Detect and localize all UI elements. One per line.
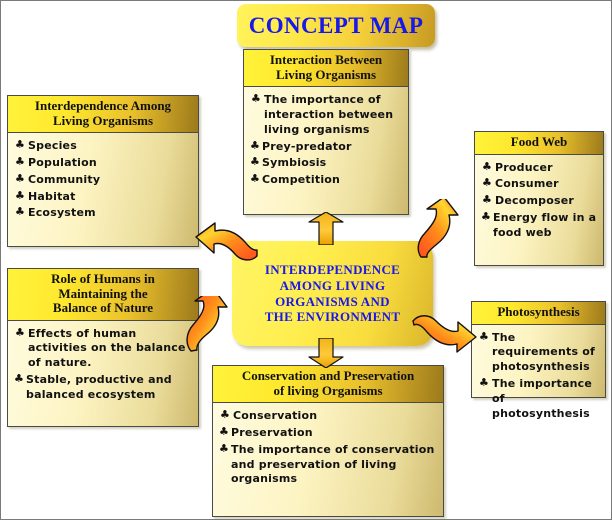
club-bullet-icon: ♣ <box>15 326 25 341</box>
club-bullet-icon: ♣ <box>219 425 229 440</box>
list-item: ♣The importance of photosynthesis <box>479 377 601 422</box>
club-bullet-icon: ♣ <box>220 408 230 423</box>
concept-map-canvas: CONCEPT MAP Interd <box>0 0 612 520</box>
club-bullet-icon: ♣ <box>15 205 25 220</box>
club-bullet-icon: ♣ <box>15 172 25 187</box>
list-item-label: The requirements of photosynthesis <box>492 331 595 374</box>
list-item-label: Species <box>28 139 77 152</box>
box-interdependence-among-living-organisms[interactable]: Interdependence Among Living Organisms ♣… <box>7 95 199 247</box>
box-role-of-humans[interactable]: Role of Humans in Maintaining the Balanc… <box>7 268 199 427</box>
box-body: ♣Species ♣Population ♣Community ♣Habitat… <box>8 133 198 228</box>
header-line: Role of Humans in <box>11 272 195 287</box>
header-line: Living Organisms <box>11 114 195 129</box>
club-bullet-icon: ♣ <box>250 139 260 154</box>
header-line: Food Web <box>478 135 600 150</box>
box-body: ♣The importance of interaction between l… <box>244 87 408 195</box>
list-item-label: Ecosystem <box>28 206 96 219</box>
list-item-label: Symbiosis <box>262 156 326 169</box>
box-header: Photosynthesis <box>472 302 605 325</box>
box-header: Interaction Between Living Organisms <box>244 50 408 87</box>
central-line: AMONG LIVING <box>265 278 401 294</box>
box-interaction-between-living-organisms[interactable]: Interaction Between Living Organisms ♣Th… <box>243 49 409 215</box>
header-line: Living Organisms <box>247 68 405 83</box>
box-header: Interdependence Among Living Organisms <box>8 96 198 133</box>
list-item: ♣Stable, productive and balanced ecosyst… <box>15 373 194 403</box>
list-item-label: Prey-predator <box>262 140 352 153</box>
club-bullet-icon: ♣ <box>481 210 491 225</box>
club-bullet-icon: ♣ <box>482 176 492 191</box>
list-item-label: Population <box>28 156 97 169</box>
arrow-to-humans <box>183 296 253 356</box>
central-line: THE ENVIRONMENT <box>265 309 401 325</box>
list-item: ♣Effects of human activities on the bala… <box>15 327 194 372</box>
club-bullet-icon: ♣ <box>14 372 24 387</box>
box-header: Role of Humans in Maintaining the Balanc… <box>8 269 198 321</box>
header-line: Conservation and Preservation <box>216 369 440 384</box>
header-line: Interaction Between <box>247 53 405 68</box>
list-item: ♣Conservation <box>220 409 439 424</box>
arrow-to-interdependence <box>193 206 263 262</box>
bullet-list: ♣Producer ♣Consumer ♣Decomposer ♣Energy … <box>482 161 599 241</box>
list-item-label: Stable, productive and balanced ecosyste… <box>26 373 172 401</box>
list-item-label: The importance of interaction between li… <box>264 93 393 136</box>
page-title: CONCEPT MAP <box>249 13 424 39</box>
list-item: ♣The importance of interaction between l… <box>251 93 404 138</box>
list-item: ♣Community <box>15 173 194 188</box>
box-food-web[interactable]: Food Web ♣Producer ♣Consumer ♣Decomposer… <box>474 131 604 266</box>
arrow-to-photosynthesis <box>409 307 479 359</box>
bullet-list: ♣Conservation ♣Preservation ♣The importa… <box>220 409 439 487</box>
club-bullet-icon: ♣ <box>15 155 25 170</box>
box-body: ♣Effects of human activities on the bala… <box>8 321 198 410</box>
list-item-label: Effects of human activities on the balan… <box>28 327 186 370</box>
list-item-label: Energy flow in a food web <box>493 211 596 239</box>
box-body: ♣Producer ♣Consumer ♣Decomposer ♣Energy … <box>475 155 603 248</box>
list-item: ♣Energy flow in a food web <box>482 211 599 241</box>
club-bullet-icon: ♣ <box>250 172 260 187</box>
list-item: ♣The importance of conservation and pres… <box>220 443 439 488</box>
list-item-label: Community <box>28 173 100 186</box>
club-bullet-icon: ♣ <box>479 330 489 345</box>
arrow-to-conservation <box>306 338 346 368</box>
list-item: ♣Competition <box>251 173 404 188</box>
arrow-to-interaction <box>306 212 346 245</box>
list-item: ♣The requirements of photosynthesis <box>479 331 601 376</box>
club-bullet-icon: ♣ <box>250 155 260 170</box>
box-photosynthesis[interactable]: Photosynthesis ♣The requirements of phot… <box>471 301 606 398</box>
central-line: INTERDEPENDENCE <box>265 262 401 278</box>
arrow-to-foodweb <box>417 199 479 261</box>
list-item: ♣Decomposer <box>482 194 599 209</box>
bullet-list: ♣The importance of interaction between l… <box>251 93 404 188</box>
box-header: Conservation and Preservation of living … <box>213 366 443 403</box>
bullet-list: ♣Species ♣Population ♣Community ♣Habitat… <box>15 139 194 221</box>
list-item-label: Consumer <box>495 177 559 190</box>
bullet-list: ♣The requirements of photosynthesis ♣The… <box>479 331 601 422</box>
header-line: Interdependence Among <box>11 99 195 114</box>
club-bullet-icon: ♣ <box>15 138 25 153</box>
box-body: ♣Conservation ♣Preservation ♣The importa… <box>213 403 443 494</box>
list-item: ♣Symbiosis <box>251 156 404 171</box>
club-bullet-icon: ♣ <box>219 442 229 457</box>
header-line: Photosynthesis <box>475 305 602 320</box>
concept-map-title-banner: CONCEPT MAP <box>237 4 435 47</box>
central-node-text: INTERDEPENDENCE AMONG LIVING ORGANISMS A… <box>265 262 401 325</box>
box-header: Food Web <box>475 132 603 155</box>
list-item-label: The importance of conservation and prese… <box>231 443 435 486</box>
bullet-list: ♣Effects of human activities on the bala… <box>15 327 194 403</box>
central-line: ORGANISMS AND <box>265 294 401 310</box>
list-item: ♣Species <box>15 139 194 154</box>
list-item: ♣Prey-predator <box>251 140 404 155</box>
list-item-label: Producer <box>495 161 553 174</box>
list-item-label: Decomposer <box>495 194 574 207</box>
club-bullet-icon: ♣ <box>479 376 489 391</box>
list-item: ♣Producer <box>482 161 599 176</box>
club-bullet-icon: ♣ <box>482 160 492 175</box>
list-item: ♣Habitat <box>15 190 194 205</box>
list-item-label: The importance of photosynthesis <box>492 377 592 420</box>
list-item: ♣Consumer <box>482 177 599 192</box>
club-bullet-icon: ♣ <box>251 92 261 107</box>
list-item: ♣Population <box>15 156 194 171</box>
header-line: of living Organisms <box>216 384 440 399</box>
list-item-label: Preservation <box>231 426 313 439</box>
club-bullet-icon: ♣ <box>482 193 492 208</box>
header-line: Maintaining the <box>11 287 195 302</box>
club-bullet-icon: ♣ <box>15 189 25 204</box>
list-item-label: Habitat <box>28 190 76 203</box>
box-body: ♣The requirements of photosynthesis ♣The… <box>472 325 605 429</box>
list-item: ♣Ecosystem <box>15 206 194 221</box>
list-item-label: Competition <box>262 173 340 186</box>
list-item: ♣Preservation <box>220 426 439 441</box>
header-line: Balance of Nature <box>11 301 195 316</box>
box-conservation-and-preservation[interactable]: Conservation and Preservation of living … <box>212 365 444 517</box>
list-item-label: Conservation <box>233 409 317 422</box>
